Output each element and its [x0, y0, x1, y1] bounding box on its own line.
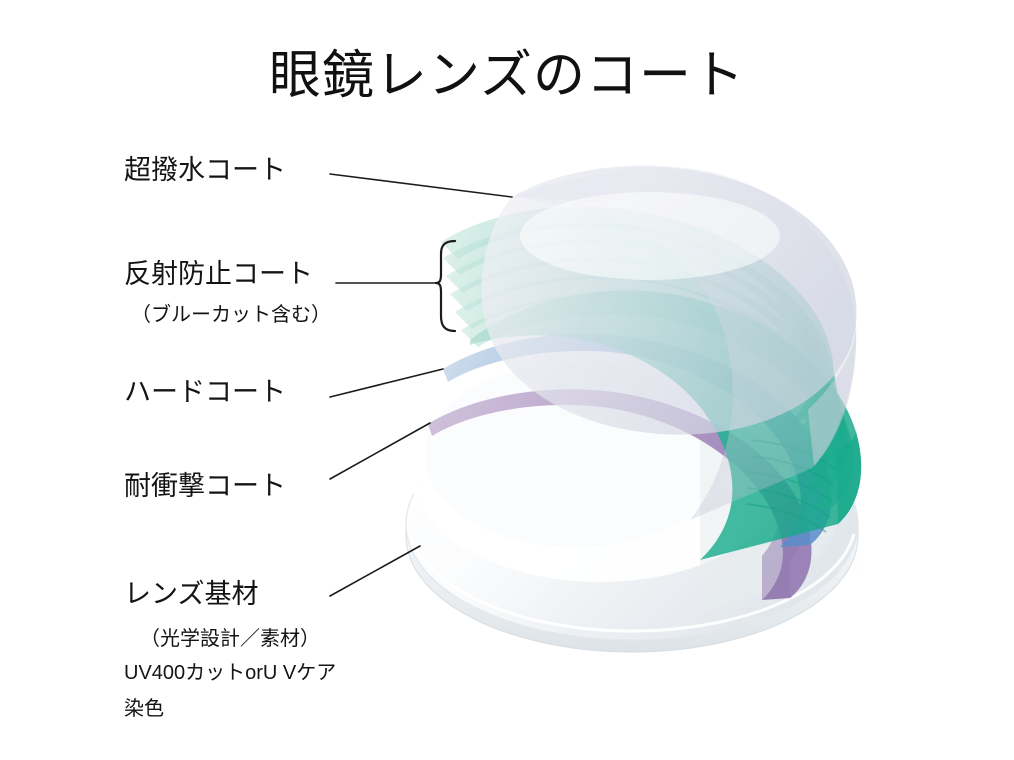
label-antireflective-coat: 反射防止コート: [124, 258, 313, 290]
leader-line-hard-coat: [330, 369, 443, 397]
label-bluecut-note: （ブルーカット含む）: [131, 303, 331, 328]
label-superhydrophobic-coat: 超撥水コート: [124, 154, 286, 186]
label-uv-note: UV400カットorU Vケア: [124, 661, 336, 686]
slide-canvas: 眼鏡レンズのコート: [0, 0, 1014, 760]
label-impact-coat: 耐衝撃コート: [124, 470, 286, 502]
label-tint-note: 染色: [124, 697, 164, 722]
leader-line-superhydrophobic: [330, 174, 512, 197]
label-hard-coat: ハードコート: [124, 376, 286, 408]
label-lens-base: レンズ基材: [124, 578, 258, 610]
leader-line-lens-base: [330, 546, 420, 596]
label-optical-note: （光学設計／素材）: [140, 627, 320, 652]
